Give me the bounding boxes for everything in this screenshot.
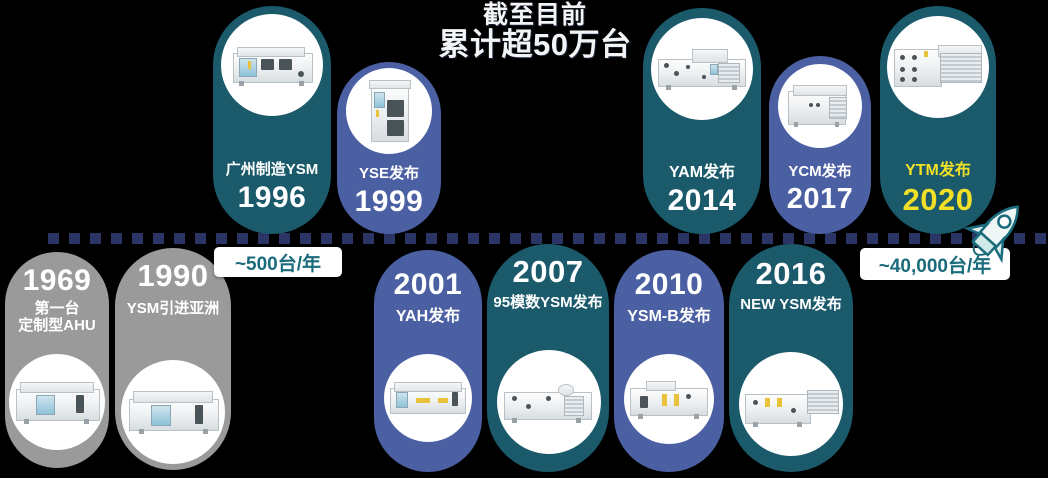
dash-segment bbox=[615, 233, 626, 244]
dash-segment bbox=[447, 233, 458, 244]
dash-segment bbox=[342, 233, 353, 244]
milestone-label: YSM-B发布 bbox=[614, 308, 724, 326]
milestone-year: 2010 bbox=[614, 270, 724, 300]
milestone-label: YSE发布 bbox=[337, 166, 441, 183]
milestone-2001[interactable]: 2001 YAH发布 bbox=[374, 250, 482, 472]
ahu-unit-illustration bbox=[502, 378, 596, 426]
dash-segment bbox=[426, 233, 437, 244]
milestone-label-wrap: 2001 YAH发布 bbox=[374, 270, 482, 326]
dash-segment bbox=[195, 233, 206, 244]
dash-segment bbox=[888, 233, 899, 244]
dash-segment bbox=[636, 233, 647, 244]
milestone-1990[interactable]: 1990 YSM引进亚洲 bbox=[115, 248, 231, 470]
milestone-label-line-2: 定制型AHU bbox=[5, 318, 109, 335]
dash-segment bbox=[174, 233, 185, 244]
dash-segment bbox=[300, 233, 311, 244]
milestone-year: 2014 bbox=[643, 186, 761, 216]
ahu-unit-illustration bbox=[628, 376, 710, 422]
milestone-label: 95模数YSM发布 bbox=[487, 295, 609, 312]
dash-segment bbox=[48, 233, 59, 244]
dash-segment bbox=[111, 233, 122, 244]
milestone-year: 2016 bbox=[729, 258, 853, 289]
milestone-1996[interactable]: 广州制造YSM 1996 bbox=[213, 6, 331, 234]
timeline-dashed-axis bbox=[48, 233, 1038, 244]
milestone-year: 2017 bbox=[769, 185, 871, 214]
milestone-photo bbox=[121, 360, 225, 464]
dash-segment bbox=[594, 233, 605, 244]
headline-line-1: 截至目前 bbox=[410, 2, 660, 28]
dash-segment bbox=[69, 233, 80, 244]
ahu-unit-illustration bbox=[785, 81, 855, 131]
milestone-photo bbox=[739, 352, 843, 456]
ahu-unit-illustration bbox=[361, 78, 417, 144]
milestone-1969[interactable]: 1969 第一台 定制型AHU bbox=[5, 252, 109, 468]
milestone-label-wrap: 2007 95模数YSM发布 bbox=[487, 256, 609, 312]
milestone-label-wrap: 2010 YSM-B发布 bbox=[614, 270, 724, 326]
milestone-photo bbox=[497, 350, 601, 454]
dash-segment bbox=[237, 233, 248, 244]
dash-segment bbox=[384, 233, 395, 244]
milestone-label: YCM发布 bbox=[769, 164, 871, 181]
milestone-photo bbox=[887, 16, 989, 118]
callout-left-text: ~500台/年 bbox=[235, 249, 321, 276]
dash-segment bbox=[909, 233, 920, 244]
milestone-2014[interactable]: YAM发布 2014 bbox=[643, 8, 761, 234]
milestone-photo bbox=[651, 18, 753, 120]
dash-segment bbox=[741, 233, 752, 244]
milestone-label: YSM引进亚洲 bbox=[115, 301, 231, 318]
dash-segment bbox=[552, 233, 563, 244]
callout-left-volume: ~500台/年 bbox=[214, 247, 342, 277]
milestone-photo bbox=[384, 354, 472, 442]
milestone-label: YTM发布 bbox=[880, 162, 996, 180]
dash-segment bbox=[510, 233, 521, 244]
milestone-label-line-1: 第一台 bbox=[5, 301, 109, 318]
milestone-year: 2001 bbox=[374, 270, 482, 300]
milestone-2016[interactable]: 2016 NEW YSM发布 bbox=[729, 244, 853, 472]
dash-segment bbox=[762, 233, 773, 244]
dash-segment bbox=[531, 233, 542, 244]
milestone-photo bbox=[346, 68, 432, 154]
milestone-photo bbox=[9, 354, 105, 450]
ahu-unit-illustration bbox=[388, 376, 468, 420]
dash-segment bbox=[825, 233, 836, 244]
milestone-2007[interactable]: 2007 95模数YSM发布 bbox=[487, 244, 609, 472]
ahu-unit-illustration bbox=[229, 41, 315, 89]
milestone-1999[interactable]: YSE发布 1999 bbox=[337, 62, 441, 234]
dash-segment bbox=[573, 233, 584, 244]
milestone-label-wrap: 2016 NEW YSM发布 bbox=[729, 258, 853, 314]
milestone-photo bbox=[221, 14, 323, 116]
dash-segment bbox=[258, 233, 269, 244]
milestone-label-wrap: 广州制造YSM 1996 bbox=[213, 162, 331, 213]
milestone-label: YAM发布 bbox=[643, 164, 761, 182]
headline-line-2: 累计超50万台 bbox=[410, 28, 660, 62]
dash-segment bbox=[132, 233, 143, 244]
headline: 截至目前 累计超50万台 bbox=[410, 2, 660, 62]
milestone-year: 1969 bbox=[5, 266, 109, 296]
dash-segment bbox=[279, 233, 290, 244]
dash-segment bbox=[216, 233, 227, 244]
milestone-label-wrap: YCM发布 2017 bbox=[769, 164, 871, 214]
ahu-unit-illustration bbox=[14, 377, 100, 427]
dash-segment bbox=[783, 233, 794, 244]
ahu-unit-illustration bbox=[127, 385, 219, 439]
ahu-unit-illustration bbox=[656, 45, 748, 93]
milestone-2017[interactable]: YCM发布 2017 bbox=[769, 56, 871, 234]
milestone-label: YAH发布 bbox=[374, 308, 482, 326]
dash-segment bbox=[489, 233, 500, 244]
dash-segment bbox=[321, 233, 332, 244]
ahu-unit-illustration bbox=[743, 380, 839, 428]
timeline-infographic: 截至目前 累计超50万台 广州制造YSM 1996 bbox=[0, 0, 1048, 478]
dash-segment bbox=[678, 233, 689, 244]
milestone-label-wrap: YAM发布 2014 bbox=[643, 164, 761, 216]
rocket-icon bbox=[956, 192, 1034, 272]
ahu-unit-illustration bbox=[892, 41, 984, 93]
dash-segment bbox=[867, 233, 878, 244]
dash-segment bbox=[468, 233, 479, 244]
dash-segment bbox=[846, 233, 857, 244]
dash-segment bbox=[363, 233, 374, 244]
milestone-label-wrap: 1969 第一台 定制型AHU bbox=[5, 266, 109, 334]
milestone-year: 1996 bbox=[213, 183, 331, 213]
milestone-label: 广州制造YSM bbox=[213, 162, 331, 179]
dash-segment bbox=[1035, 233, 1046, 244]
milestone-2010[interactable]: 2010 YSM-B发布 bbox=[614, 250, 724, 472]
dash-segment bbox=[699, 233, 710, 244]
dash-segment bbox=[405, 233, 416, 244]
dash-segment bbox=[90, 233, 101, 244]
milestone-photo bbox=[778, 64, 862, 148]
dash-segment bbox=[153, 233, 164, 244]
milestone-label-wrap: YSE发布 1999 bbox=[337, 166, 441, 217]
milestone-year: 2007 bbox=[487, 256, 609, 287]
dash-segment bbox=[930, 233, 941, 244]
milestone-photo bbox=[624, 354, 714, 444]
dash-segment bbox=[657, 233, 668, 244]
milestone-label: NEW YSM发布 bbox=[729, 297, 853, 314]
dash-segment bbox=[804, 233, 815, 244]
dash-segment bbox=[720, 233, 731, 244]
milestone-year: 1999 bbox=[337, 187, 441, 217]
